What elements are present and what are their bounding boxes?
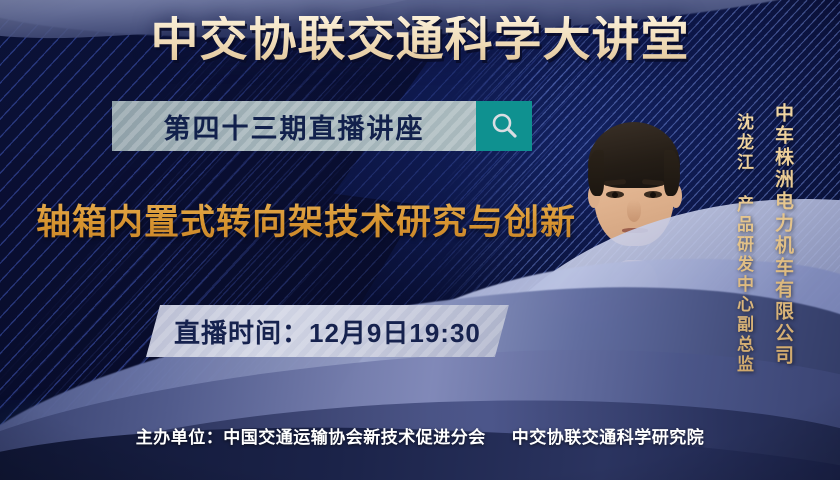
lecture-topic-title: 轴箱内置式转向架技术研究与创新 — [36, 194, 576, 245]
session-search-bar[interactable]: 第四十三期直播讲座 — [112, 101, 532, 151]
speaker-name-and-role: 沈龙江 产品研发中心副总监 — [731, 113, 756, 375]
live-time-text: 直播时间：12月9日19:30 — [174, 313, 481, 350]
footer-organizers: 主办单位：中国交通运输协会新技术促进分会中交协联交通科学研究院 — [0, 423, 840, 448]
speaker-company: 中车株洲电力机车有限公司 — [769, 103, 796, 367]
portrait-neck — [610, 260, 658, 320]
page-title: 中交协联交通科学大讲堂 — [0, 16, 840, 64]
footer-organizer-1: 中国交通运输协会新技术促进分会 — [223, 428, 486, 447]
footer-organizer-label: 主办单位： — [136, 428, 224, 447]
search-icon — [489, 111, 519, 141]
portrait-pupil-left — [612, 192, 618, 198]
portrait-hair-side-right — [664, 150, 680, 196]
portrait-nose — [627, 200, 641, 222]
portrait-hair-side-left — [588, 150, 604, 196]
live-time-badge: 直播时间：12月9日19:30 — [146, 305, 509, 357]
search-button[interactable] — [476, 101, 532, 151]
footer-organizer-2: 中交协联交通科学研究院 — [512, 428, 705, 447]
portrait-pupil-right — [650, 192, 656, 198]
session-label-field[interactable]: 第四十三期直播讲座 — [112, 101, 476, 151]
speaker-portrait — [524, 92, 740, 422]
portrait-mouth — [622, 228, 648, 233]
livestream-poster: 中交协联交通科学大讲堂 第四十三期直播讲座 轴箱内置式转向架技术研究与创新 直播… — [0, 0, 840, 480]
session-label: 第四十三期直播讲座 — [164, 107, 425, 146]
